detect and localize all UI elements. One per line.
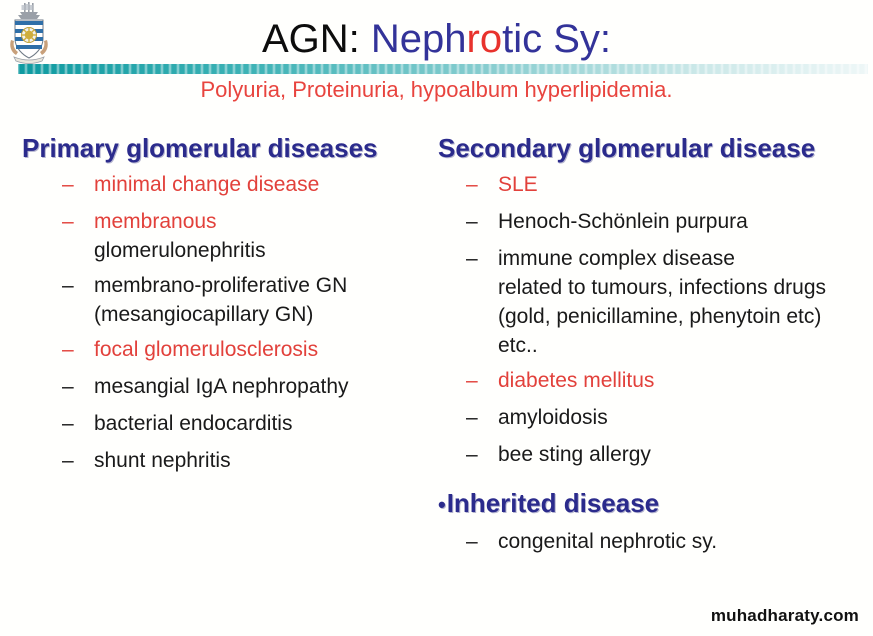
list-item-label: mesangial IgA nephropathy — [94, 375, 349, 398]
list-item-label: membrano-proliferative GN — [94, 274, 347, 297]
title-part-o: o — [480, 17, 502, 61]
list-item: SLE — [466, 170, 858, 199]
list-item-label: bee sting allergy — [498, 443, 651, 466]
teal-divider-bar — [18, 64, 868, 74]
list-item-label: bacterial endocarditis — [94, 412, 292, 435]
list-item: focal glomerulosclerosis — [62, 335, 432, 364]
list-item-continuation: (mesangiocapillary GN) — [94, 300, 432, 329]
list-item: membrano-proliferative GN (mesangiocapil… — [62, 271, 432, 329]
secondary-glomerular-disease-column: Secondary glomerular disease SLE Henoch-… — [438, 132, 858, 564]
inherited-disease-list: congenital nephrotic sy. — [438, 527, 858, 556]
inherited-disease-heading: Inherited disease — [438, 487, 858, 521]
left-column-list: minimal change disease membranous glomer… — [22, 170, 432, 475]
list-item-continuation: glomerulonephritis — [94, 236, 432, 265]
list-item: Henoch-Schönlein purpura — [466, 207, 858, 236]
list-item: immune complex disease related to tumour… — [466, 244, 858, 360]
list-item-label: focal glomerulosclerosis — [94, 338, 318, 361]
list-item: membranous glomerulonephritis — [62, 207, 432, 265]
list-item-label: membranous — [94, 210, 217, 233]
right-column-heading: Secondary glomerular disease — [438, 132, 858, 164]
list-item: diabetes mellitus — [466, 366, 858, 395]
list-item: bacterial endocarditis — [62, 409, 432, 438]
list-item: congenital nephrotic sy. — [466, 527, 858, 556]
site-watermark: muhadharaty.com — [711, 606, 859, 626]
list-item-continuation: related to tumours, infections drugs (go… — [498, 273, 858, 360]
list-item: minimal change disease — [62, 170, 432, 199]
list-item-label: diabetes mellitus — [498, 369, 654, 392]
left-column-heading: Primary glomerular diseases — [22, 132, 432, 164]
list-item: mesangial IgA nephropathy — [62, 372, 432, 401]
list-item-label: Henoch-Schönlein purpura — [498, 210, 748, 233]
list-item-label: minimal change disease — [94, 173, 319, 196]
list-item-label: congenital nephrotic sy. — [498, 530, 717, 553]
list-item: shunt nephritis — [62, 446, 432, 475]
slide-canvas: AGN: Nephrotic Sy: Polyuria, Proteinuria… — [0, 0, 873, 636]
list-item: amyloidosis — [466, 403, 858, 432]
slide-title: AGN: Nephrotic Sy: — [0, 16, 873, 62]
title-part-neph: Neph — [371, 17, 467, 61]
primary-glomerular-diseases-column: Primary glomerular diseases minimal chan… — [22, 132, 432, 483]
title-part-agn: AGN: — [262, 17, 371, 61]
slide-subtitle: Polyuria, Proteinuria, hypoalbum hyperli… — [0, 76, 873, 104]
list-item-label: immune complex disease — [498, 247, 735, 270]
right-column-list: SLE Henoch-Schönlein purpura immune comp… — [438, 170, 858, 469]
list-item-label: SLE — [498, 173, 538, 196]
title-part-tic-sy: tic Sy: — [502, 17, 611, 61]
title-part-r: r — [467, 17, 480, 61]
list-item-label: amyloidosis — [498, 406, 608, 429]
list-item-label: shunt nephritis — [94, 449, 231, 472]
list-item: bee sting allergy — [466, 440, 858, 469]
